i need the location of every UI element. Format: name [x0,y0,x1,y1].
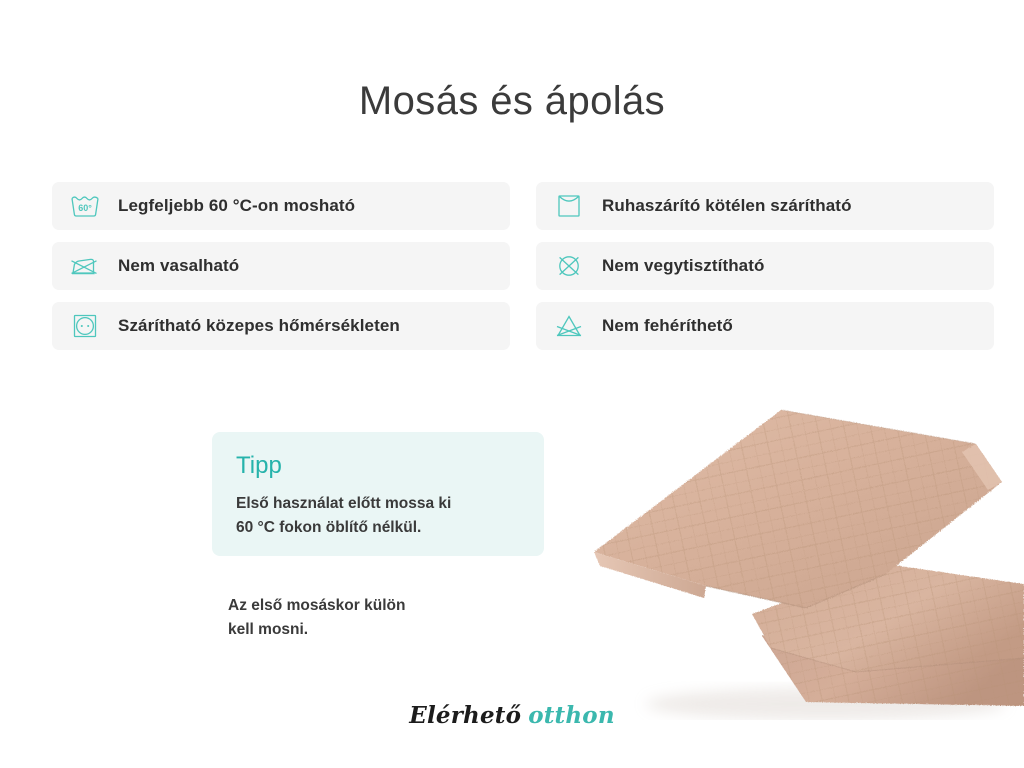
brand-logo: Elérhetőotthon [0,702,1024,729]
care-card-line-dry: Ruhaszárító kötélen szárítható [536,182,994,230]
care-card-tumble-dry-medium: Szárítható közepes hőmérsékleten [52,302,510,350]
care-card-label: Nem fehéríthető [602,316,733,336]
care-card-do-not-bleach: Nem fehéríthető [536,302,994,350]
tumble-dry-medium-icon [68,311,102,341]
slide-canvas: Mosás és ápolás 60° Legfeljebb 60 °C-on … [0,0,1024,768]
do-not-iron-icon [68,251,102,281]
svg-text:60°: 60° [78,203,92,213]
care-card-label: Nem vegytisztítható [602,256,765,276]
tip-title: Tipp [236,454,520,478]
care-card-label: Nem vasalható [118,256,239,276]
care-card-do-not-iron: Nem vasalható [52,242,510,290]
care-card-label: Ruhaszárító kötélen szárítható [602,196,852,216]
care-card-do-not-dry-clean: Nem vegytisztítható [536,242,994,290]
page-title: Mosás és ápolás [0,77,1024,125]
line-dry-icon [552,191,586,221]
towel-product-image [556,386,1024,720]
do-not-bleach-icon [552,311,586,341]
care-card-label: Szárítható közepes hőmérsékleten [118,316,400,336]
care-card-wash-60: 60° Legfeljebb 60 °C-on mosható [52,182,510,230]
brand-logo-word-1: Elérhető [409,702,521,729]
do-not-dry-clean-icon [552,251,586,281]
wash-60-icon: 60° [68,191,102,221]
note-text: Az első mosáskor külön kell mosni. [228,594,558,643]
care-card-label: Legfeljebb 60 °C-on mosható [118,196,355,216]
brand-logo-word-2: otthon [528,702,615,729]
tip-text: Első használat előtt mossa ki 60 °C foko… [236,492,520,540]
tip-box: Tipp Első használat előtt mossa ki 60 °C… [212,432,544,556]
care-instruction-grid: 60° Legfeljebb 60 °C-on mosható Ruhaszár… [52,182,972,350]
